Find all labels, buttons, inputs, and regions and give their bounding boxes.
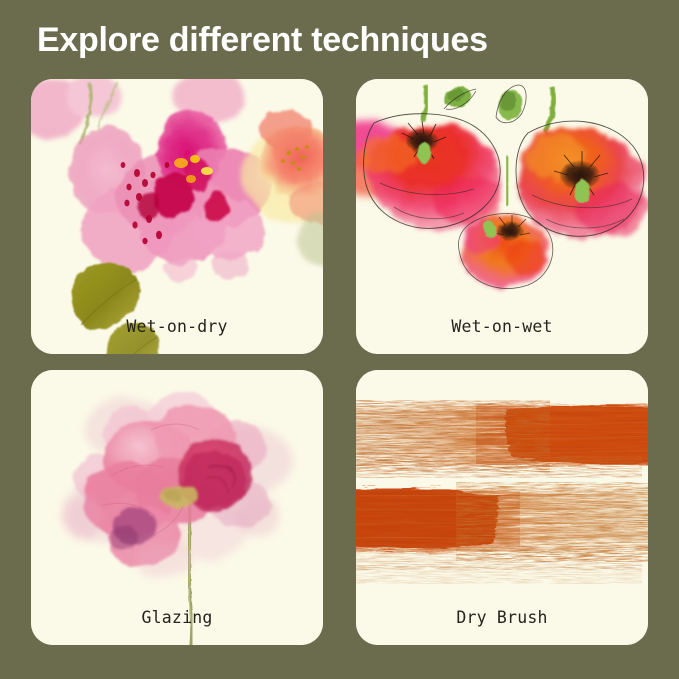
technique-card-wet-on-dry[interactable]: Wet-on-dry	[31, 79, 323, 354]
technique-card-glazing[interactable]: Glazing	[31, 370, 323, 645]
card-label-wet-on-dry: Wet-on-dry	[31, 317, 323, 336]
artwork-wet-on-dry	[31, 79, 323, 354]
artwork-wet-on-wet	[356, 79, 648, 354]
technique-card-wet-on-wet[interactable]: Wet-on-wet	[356, 79, 648, 354]
page-title: Explore different techniques	[37, 19, 488, 61]
page-root: Explore different techniques	[0, 0, 679, 679]
technique-card-dry-brush[interactable]: Dry Brush	[356, 370, 648, 645]
card-label-dry-brush: Dry Brush	[356, 608, 648, 627]
technique-card-grid: Wet-on-dry	[31, 79, 648, 645]
artwork-glazing	[31, 370, 323, 645]
artwork-dry-brush	[356, 370, 648, 645]
card-label-glazing: Glazing	[31, 608, 323, 627]
card-label-wet-on-wet: Wet-on-wet	[356, 317, 648, 336]
